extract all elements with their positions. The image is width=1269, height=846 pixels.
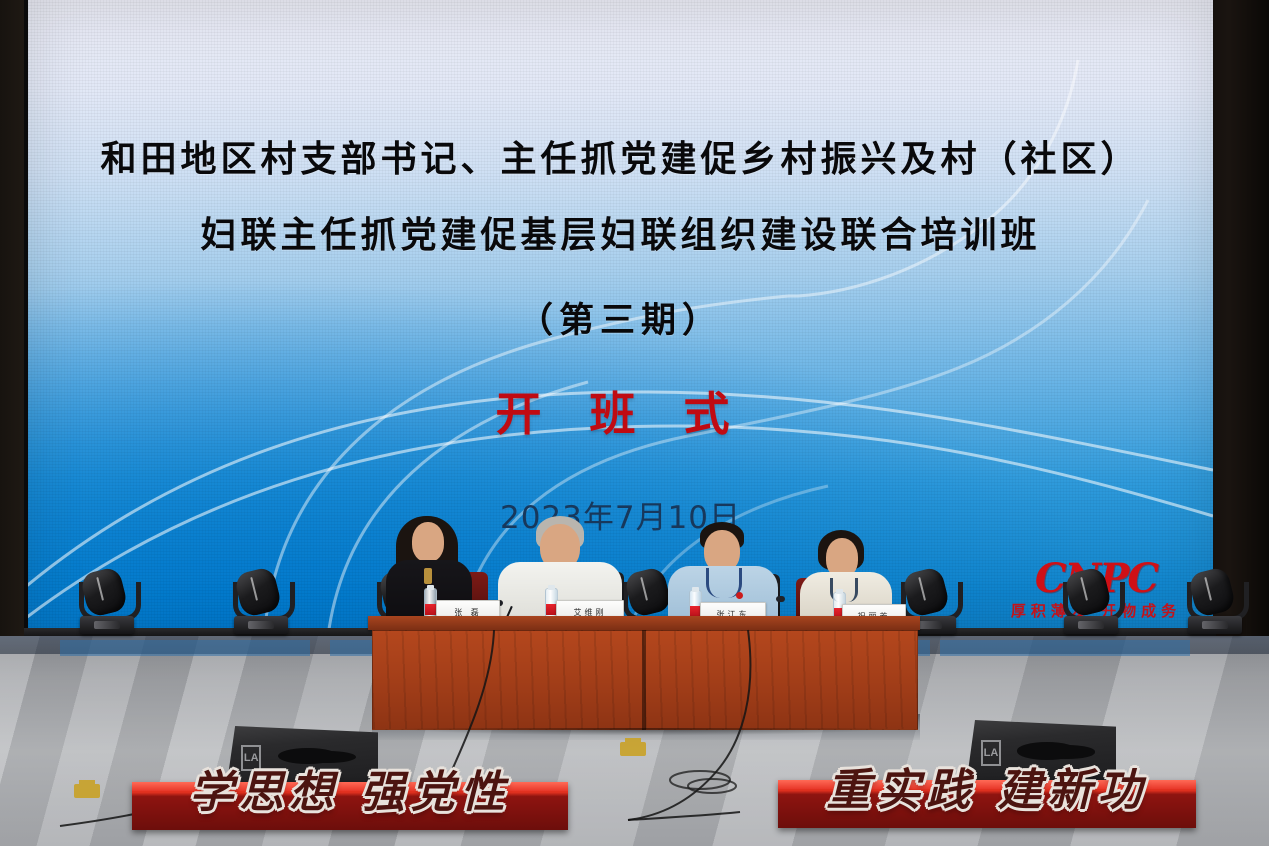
title-line-2: 妇联主任抓党建促基层妇联组织建设联合培训班 bbox=[28, 206, 1213, 258]
banner-platform-left: 学思想 强党性 bbox=[132, 782, 568, 830]
banner-platform-right: 重实践 建新功 bbox=[778, 780, 1196, 828]
necklace-seat-1 bbox=[424, 568, 432, 584]
party-pin-seat-3 bbox=[736, 592, 743, 599]
gaffer-tape-marker-2 bbox=[620, 742, 646, 756]
banner-text-right: 重实践 建新功 bbox=[778, 754, 1196, 818]
title-line-1: 和田地区村支部书记、主任抓党建促乡村振兴及村（社区） bbox=[28, 130, 1213, 182]
face-seat-1 bbox=[412, 522, 444, 562]
screen-content: 和田地区村支部书记、主任抓党建促乡村振兴及村（社区） 妇联主任抓党建促基层妇联组… bbox=[28, 0, 1213, 636]
title-line-3: （第三期） bbox=[28, 292, 1213, 343]
microphone-head-2 bbox=[776, 596, 785, 602]
gaffer-tape-marker-1 bbox=[74, 784, 100, 798]
ceremony-date: 2023年7月10日 bbox=[28, 492, 1213, 537]
banner-text-left: 学思想 强党性 bbox=[132, 756, 568, 820]
photo-scene: 和田地区村支部书记、主任抓党建促乡村振兴及村（社区） 妇联主任抓党建促基层妇联组… bbox=[0, 0, 1269, 846]
ceremony-headline: 开 班 式 bbox=[28, 378, 1213, 444]
